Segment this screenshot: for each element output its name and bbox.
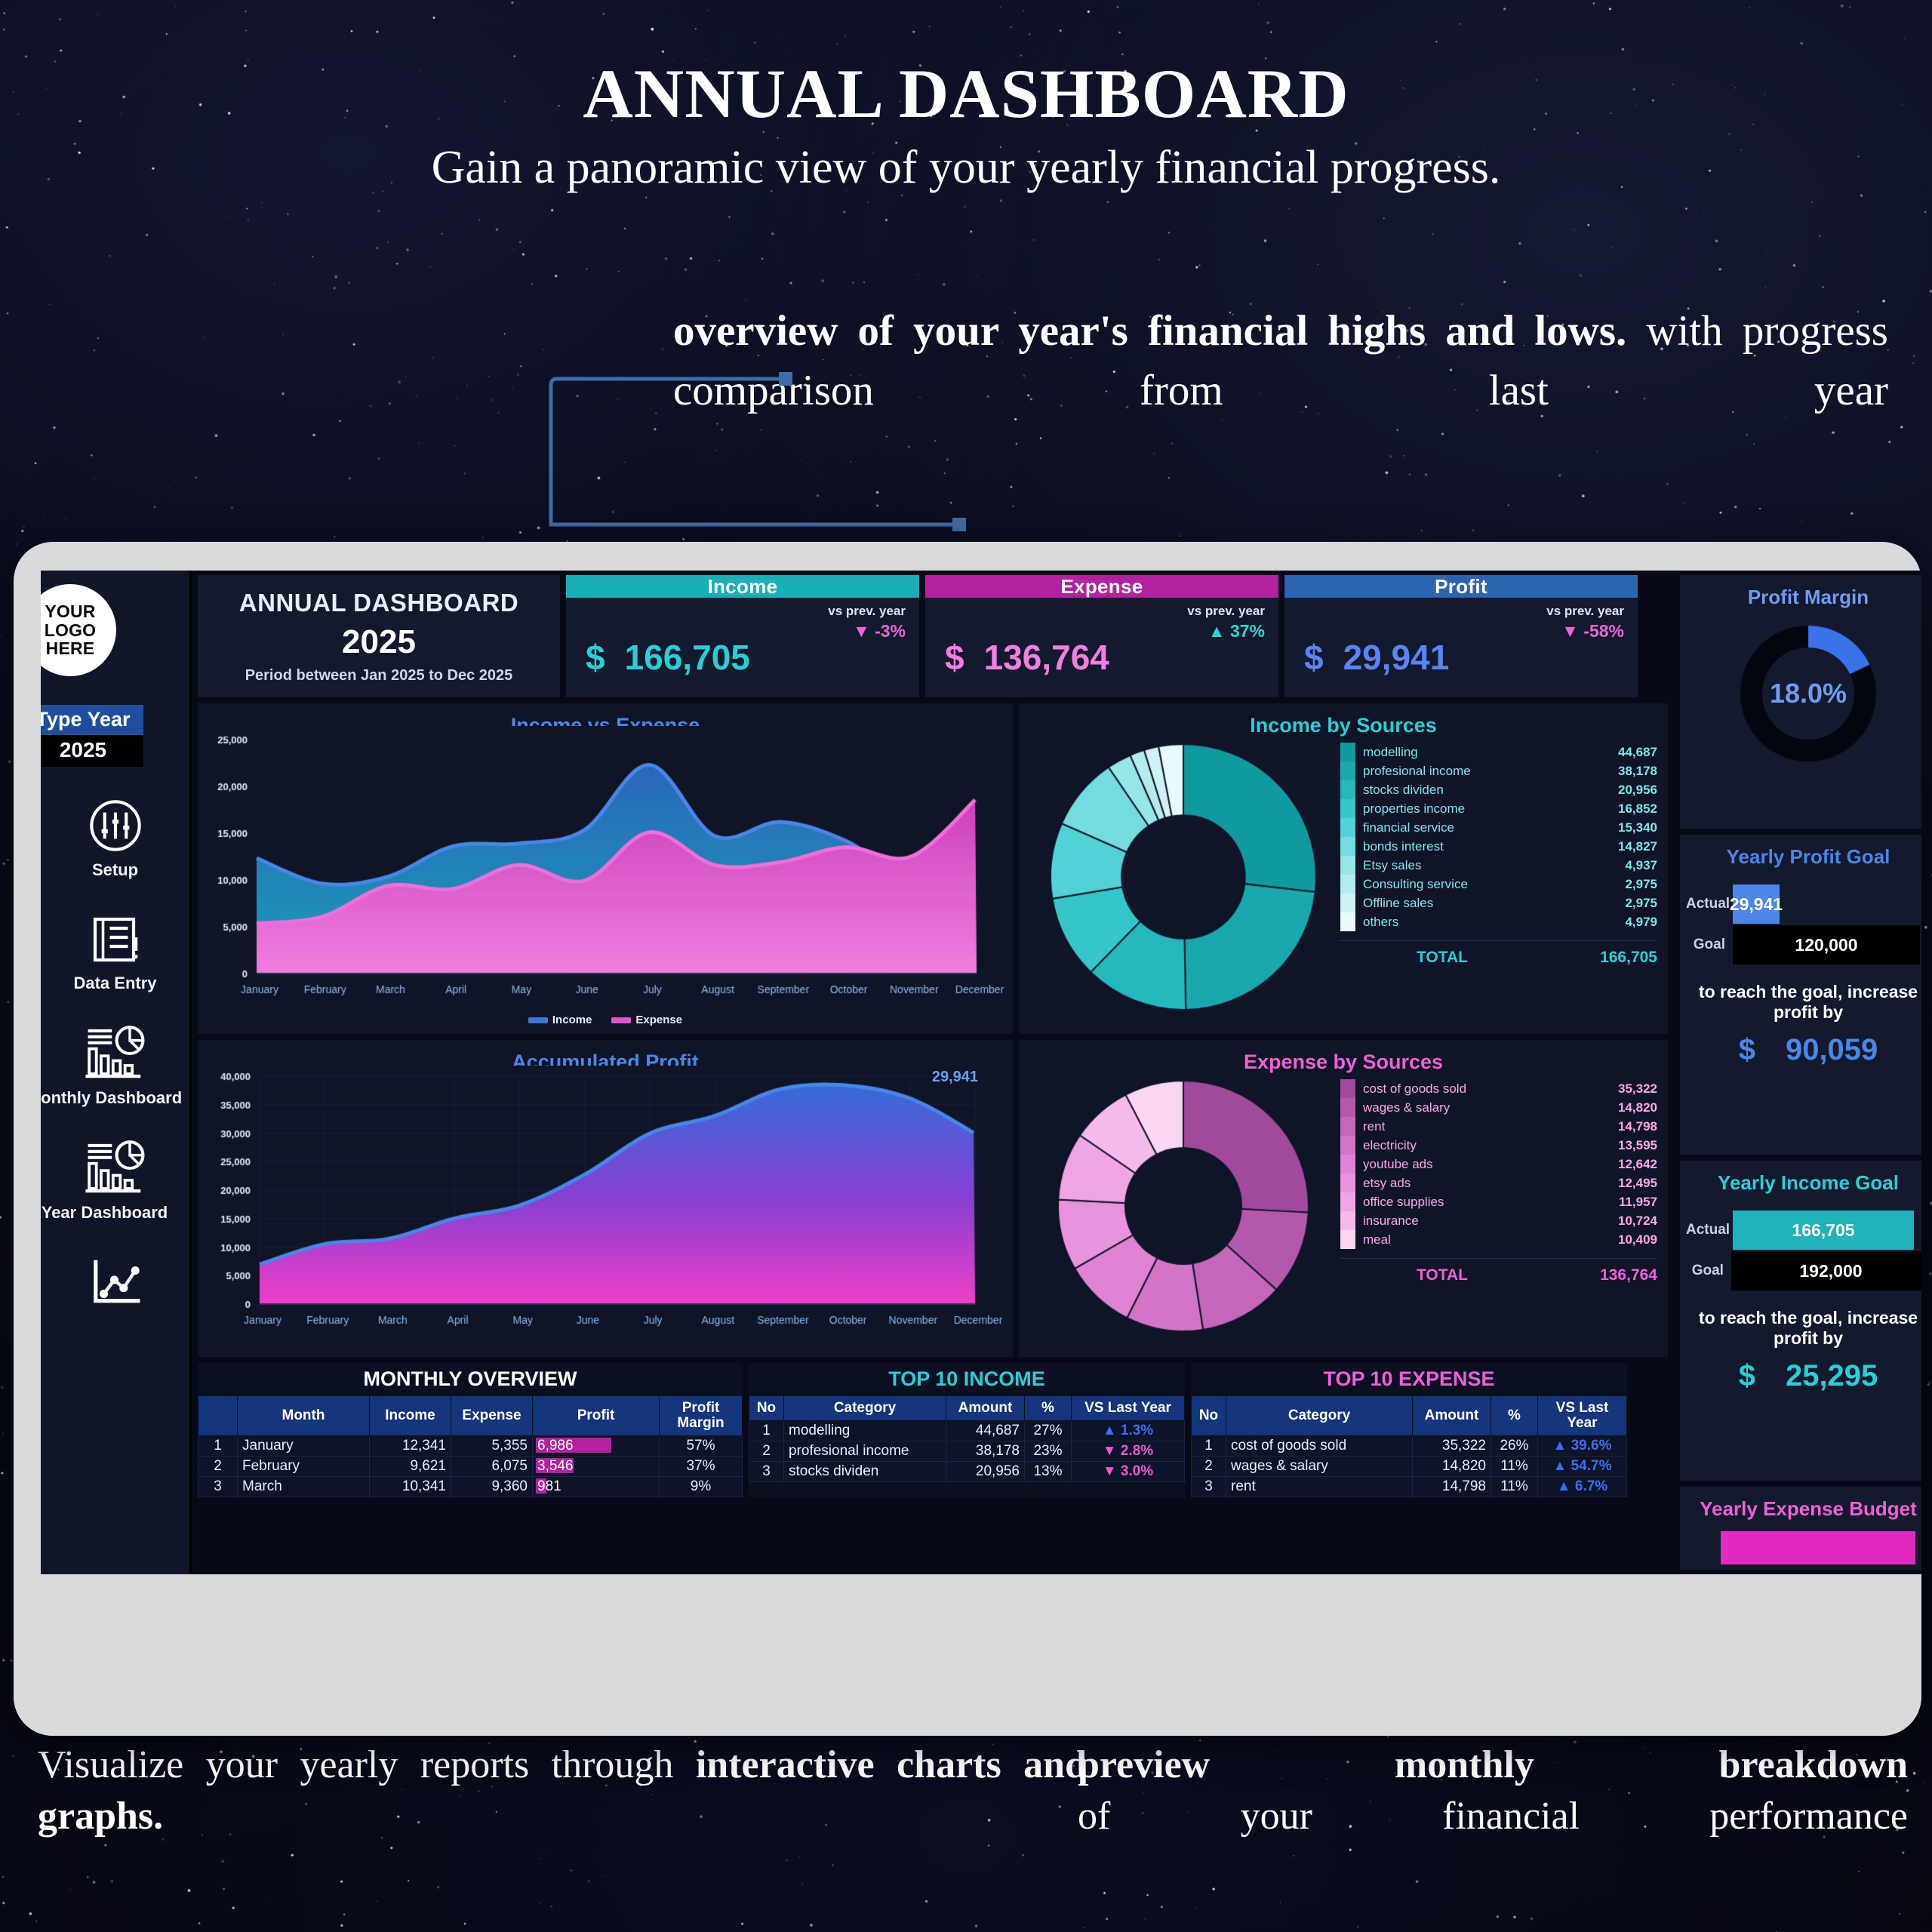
source-label: financial service — [1363, 820, 1574, 835]
source-row: insurance10,724 — [1363, 1211, 1657, 1230]
dashboard-period: Period between Jan 2025 to Dec 2025 — [245, 667, 513, 685]
sidebar-item-year-dashboard[interactable]: Year Dashboard — [41, 1140, 189, 1223]
actual-label: Actual — [1686, 1222, 1733, 1238]
kpi-card-expense[interactable]: Expense vs prev. year ▲ 37% $136,764 — [925, 575, 1278, 697]
profit-goal-amount: $90,059 — [1680, 1033, 1921, 1067]
source-row: others4,979 — [1363, 912, 1657, 931]
kpi-vs-income: vs prev. year ▼ -3% — [828, 604, 906, 641]
cell-profit: 3,546 — [533, 1456, 660, 1476]
source-row: etsy ads12,495 — [1363, 1174, 1657, 1192]
cell-pct: 13% — [1025, 1461, 1072, 1481]
source-row: rent14,798 — [1363, 1117, 1657, 1136]
top-expense-table: No Category Amount % VS Last Year 1cost … — [1191, 1395, 1627, 1497]
yearly-profit-goal-title: Yearly Profit Goal — [1680, 835, 1921, 869]
table-row[interactable]: 2profesional income38,17823%▼ 2.8% — [749, 1441, 1185, 1461]
source-value: 13,595 — [1574, 1138, 1657, 1153]
dashboard-year: 2025 — [342, 623, 416, 661]
source-row: youtube ads12,642 — [1363, 1155, 1657, 1174]
logo-line-2: LOGO — [45, 621, 97, 639]
cell-amount: 35,322 — [1413, 1435, 1491, 1456]
top-expense-panel: TOP 10 EXPENSE No Category Amount % VS L… — [1191, 1363, 1627, 1497]
cell-no: 1 — [198, 1435, 238, 1456]
callout-bottom-left: Visualize your yearly reports through in… — [38, 1740, 1087, 1843]
legend-label: Income — [552, 1014, 592, 1026]
top-expense-title: TOP 10 EXPENSE — [1191, 1363, 1627, 1395]
sidebar-item-label: Data Entry — [73, 974, 156, 993]
hero-block: ANNUAL DASHBOARD Gain a panoramic view o… — [0, 59, 1932, 193]
col-amount: Amount — [1413, 1396, 1491, 1436]
source-swatch — [1340, 743, 1355, 761]
source-label: Offline sales — [1363, 896, 1574, 911]
profit-goal-target-row: Goal 120,000 — [1686, 924, 1921, 965]
sliders-icon — [87, 797, 144, 854]
cell-vs: ▼ 2.8% — [1072, 1441, 1185, 1461]
profit-margin-card: Profit Margin 18.0% — [1680, 575, 1921, 829]
source-row: financial service15,340 — [1363, 818, 1657, 837]
cell-no: 1 — [1192, 1435, 1226, 1456]
income-swatch-column — [1340, 743, 1355, 931]
source-value: 14,820 — [1574, 1100, 1657, 1115]
kpi-delta: ▼ -58% — [1546, 621, 1624, 641]
sidebar-item-label: Setup — [92, 860, 138, 880]
source-row: bonds interest14,827 — [1363, 837, 1657, 856]
col-income: Income — [370, 1396, 451, 1436]
currency-symbol: $ — [1739, 1359, 1755, 1392]
source-label: others — [1363, 915, 1574, 930]
cell-vs: ▲ 6.7% — [1538, 1476, 1627, 1497]
kpi-header-income: Income — [566, 575, 919, 598]
profit-goal-note: to reach the goal, increase profit by — [1680, 982, 1921, 1023]
cell-no: 3 — [749, 1461, 784, 1481]
income-by-sources-panel: Income by Sources modelling44,687profesi… — [1019, 703, 1668, 1034]
source-swatch — [1340, 1079, 1355, 1098]
income-sources-legend: modelling44,687profesional income38,178s… — [1340, 743, 1657, 967]
kpi-vs-expense: vs prev. year ▲ 37% — [1187, 604, 1265, 641]
dashboard-title-card: ANNUAL DASHBOARD 2025 Period between Jan… — [198, 575, 560, 697]
kpi-body-expense: vs prev. year ▲ 37% $136,764 — [925, 598, 1278, 697]
expense-sources-legend: cost of goods sold35,322wages & salary14… — [1340, 1079, 1657, 1284]
source-label: etsy ads — [1363, 1176, 1574, 1191]
cell-income: 9,621 — [370, 1456, 451, 1476]
expense-total-row: TOTAL 136,764 — [1340, 1258, 1657, 1284]
source-row: properties income16,852 — [1363, 799, 1657, 818]
source-swatch — [1340, 1211, 1355, 1230]
cell-amount: 20,956 — [946, 1461, 1025, 1481]
cell-amount: 44,687 — [946, 1420, 1025, 1441]
income-total-value: 166,705 — [1544, 949, 1657, 967]
source-row: Offline sales2,975 — [1363, 894, 1657, 912]
profit-goal-target-value: 120,000 — [1795, 935, 1857, 955]
source-label: wages & salary — [1363, 1100, 1574, 1115]
dashboard-title: ANNUAL DASHBOARD — [239, 589, 518, 617]
currency-symbol: $ — [945, 638, 964, 677]
profit-margin-donut: 18.0% — [1734, 620, 1882, 768]
sidebar-nav: Setup — [41, 797, 189, 1348]
currency-symbol: $ — [1304, 638, 1324, 677]
income-goal-actual-bar: 166,705 — [1733, 1211, 1914, 1250]
source-value: 35,322 — [1574, 1081, 1657, 1097]
table-row[interactable]: 2February9,6216,0753,54637% — [198, 1456, 743, 1476]
cell-expense: 5,355 — [451, 1435, 533, 1456]
source-value: 14,798 — [1574, 1119, 1657, 1134]
monthly-overview-panel: MONTHLY OVERVIEW Month Income Expense Pr… — [198, 1363, 743, 1497]
kpi-vs-profit: vs prev. year ▼ -58% — [1546, 604, 1624, 641]
page-title: ANNUAL DASHBOARD — [0, 59, 1932, 130]
source-swatch — [1340, 837, 1355, 856]
kpi-amount-profit: $29,941 — [1304, 637, 1449, 678]
profit-goal-target-bar: 120,000 — [1733, 925, 1920, 964]
callout-top: overview of your year's financial highs … — [673, 302, 1888, 420]
source-label: cost of goods sold — [1363, 1081, 1574, 1097]
yearly-income-goal-title: Yearly Income Goal — [1680, 1161, 1921, 1195]
income-goal-target-value: 192,000 — [1799, 1261, 1862, 1281]
kpi-header-profit: Profit — [1284, 575, 1638, 598]
tables-row: MONTHLY OVERVIEW Month Income Expense Pr… — [198, 1363, 1921, 1497]
yearly-expense-budget-card: Yearly Expense Budget — [1680, 1487, 1921, 1570]
source-label: electricity — [1363, 1138, 1574, 1153]
charts-row-2: Accumulated Profit 29,941 Expense by Sou… — [198, 1040, 1921, 1357]
year-selector-value[interactable]: 2025 — [41, 735, 143, 767]
cell-pct: 26% — [1491, 1435, 1538, 1456]
cell-no: 2 — [198, 1456, 238, 1476]
top-income-table: No Category Amount % VS Last Year 1model… — [749, 1395, 1185, 1482]
sidebar-item-data-entry[interactable]: Data Entry — [41, 912, 189, 993]
dashboard-content: ANNUAL DASHBOARD 2025 Period between Jan… — [192, 571, 1921, 1574]
col-amount: Amount — [946, 1396, 1025, 1421]
dashboard-screen: YOUR LOGO HERE Type Year 2025 — [41, 571, 1921, 1574]
cell-no: 3 — [1192, 1476, 1226, 1497]
right-column: Profit Margin 18.0% Yearly Profit Goal A… — [1680, 575, 1921, 1570]
poster-background: ANNUAL DASHBOARD Gain a panoramic view o… — [0, 0, 1932, 1932]
cell-pct: 11% — [1491, 1456, 1538, 1476]
kpi-vs-label: vs prev. year — [1187, 604, 1265, 619]
year-selector[interactable]: Type Year 2025 — [41, 705, 143, 767]
table-row[interactable]: 1January12,3415,3556,98657% — [198, 1435, 743, 1456]
legend-label: Expense — [635, 1014, 682, 1026]
sidebar: YOUR LOGO HERE Type Year 2025 — [41, 571, 192, 1574]
col-profit: Profit — [533, 1396, 660, 1436]
chart-title: Income by Sources — [1019, 703, 1668, 737]
source-swatch — [1340, 1155, 1355, 1174]
source-swatch — [1340, 1192, 1355, 1211]
cell-category: rent — [1226, 1476, 1413, 1497]
callout-bottom-right: preview monthly breakdown of your financ… — [1078, 1740, 1908, 1843]
source-swatch — [1340, 912, 1355, 931]
source-label: insurance — [1363, 1214, 1574, 1229]
source-row: Consulting service2,975 — [1363, 875, 1657, 894]
source-label: profesional income — [1363, 764, 1574, 779]
callout-bl-rest: Visualize your yearly reports through — [38, 1743, 696, 1786]
cell-amount: 38,178 — [946, 1441, 1025, 1461]
source-row: wages & salary14,820 — [1363, 1098, 1657, 1117]
source-value: 38,178 — [1574, 764, 1657, 779]
expense-source-rows: cost of goods sold35,322wages & salary14… — [1340, 1079, 1657, 1249]
legend-item-expense: Expense — [611, 1014, 682, 1026]
cell-vs: ▲ 1.3% — [1072, 1420, 1185, 1441]
currency-symbol: $ — [1739, 1033, 1755, 1066]
col-no — [198, 1396, 238, 1436]
source-swatch — [1340, 856, 1355, 875]
table-row[interactable]: 1modelling44,68727%▲ 1.3% — [749, 1420, 1185, 1441]
kpi-body-income: vs prev. year ▼ -3% $166,705 — [566, 598, 919, 697]
kpi-value: 136,764 — [984, 638, 1109, 677]
charts-row-1: Income vs Expense Income Expense Income … — [198, 703, 1921, 1034]
source-row: electricity13,595 — [1363, 1136, 1657, 1155]
cell-month: January — [238, 1435, 370, 1456]
data-entry-icon — [86, 912, 145, 968]
cell-category: modelling — [784, 1420, 946, 1441]
accumulated-profit-end-label: 29,941 — [932, 1069, 978, 1086]
source-swatch — [1340, 780, 1355, 799]
source-value: 44,687 — [1574, 745, 1657, 760]
yearly-profit-goal-card: Yearly Profit Goal Actual 29,941 Goal — [1680, 835, 1921, 1155]
source-swatch — [1340, 894, 1355, 912]
profit-margin-title: Profit Margin — [1680, 575, 1921, 609]
logo-placeholder: YOUR LOGO HERE — [41, 584, 116, 676]
income-goal-actual-row: Actual 166,705 — [1686, 1210, 1921, 1251]
profit-margin-value: 18.0% — [1762, 648, 1854, 740]
source-swatch — [1340, 875, 1355, 894]
cell-pct: 11% — [1491, 1476, 1538, 1497]
cell-category: cost of goods sold — [1226, 1435, 1413, 1456]
kpi-delta: ▼ -3% — [828, 621, 906, 641]
yearly-expense-budget-title: Yearly Expense Budget — [1680, 1487, 1921, 1521]
top-income-panel: TOP 10 INCOME No Category Amount % VS La… — [749, 1363, 1185, 1497]
source-value: 10,409 — [1574, 1232, 1657, 1247]
cell-income: 12,341 — [370, 1435, 451, 1456]
callout-br-rest: of your financial performance — [1078, 1795, 1908, 1838]
expense-budget-bar — [1721, 1531, 1915, 1564]
cell-margin: 57% — [660, 1435, 743, 1456]
tablet-bottom-bezel — [14, 1580, 1921, 1736]
line-chart-icon — [84, 1254, 147, 1310]
kpi-vs-label: vs prev. year — [828, 604, 906, 619]
col-month: Month — [238, 1396, 370, 1436]
callout-top-bold: overview of your year's financial highs … — [673, 307, 1626, 355]
cell-pct: 23% — [1025, 1441, 1072, 1461]
cell-no: 2 — [749, 1441, 784, 1461]
col-no: No — [749, 1396, 784, 1421]
source-label: modelling — [1363, 745, 1574, 760]
source-label: stocks dividen — [1363, 783, 1574, 798]
monthly-overview-title: MONTHLY OVERVIEW — [198, 1363, 743, 1395]
yearly-income-goal-card: Yearly Income Goal Actual 166,705 Goal — [1680, 1161, 1921, 1481]
currency-symbol: $ — [586, 638, 605, 677]
cell-month: February — [238, 1456, 370, 1476]
source-label: meal — [1363, 1232, 1574, 1247]
monthly-overview-table: Month Income Expense Profit Profit Margi… — [198, 1395, 743, 1497]
chart-title: Expense by Sources — [1019, 1040, 1668, 1074]
sidebar-item-label: Year Dashboard — [42, 1203, 168, 1223]
cell-category: profesional income — [784, 1441, 946, 1461]
cell-expense: 6,075 — [451, 1456, 533, 1476]
sidebar-item-trend[interactable] — [41, 1254, 189, 1316]
source-swatch — [1340, 818, 1355, 837]
source-value: 16,852 — [1574, 801, 1657, 817]
profit-goal-actual-value: 29,941 — [1730, 894, 1783, 915]
profit-goal-bars: Actual 29,941 Goal 120,000 — [1680, 869, 1921, 965]
source-row: office supplies11,957 — [1363, 1192, 1657, 1211]
income-goal-amount: $25,295 — [1680, 1359, 1921, 1393]
source-swatch — [1340, 1174, 1355, 1192]
kpi-card-income[interactable]: Income vs prev. year ▼ -3% $166,705 — [566, 575, 919, 697]
source-label: Consulting service — [1363, 877, 1574, 892]
cell-income: 10,341 — [370, 1476, 451, 1497]
col-vs-last-year: VS Last Year — [1538, 1396, 1627, 1436]
cell-no: 3 — [198, 1476, 238, 1497]
cell-category: wages & salary — [1226, 1456, 1413, 1476]
income-total-row: TOTAL 166,705 — [1340, 940, 1657, 967]
kpi-vs-label: vs prev. year — [1546, 604, 1624, 619]
cell-margin: 37% — [660, 1456, 743, 1476]
table-row[interactable]: 1cost of goods sold35,32226%▲ 39.6% — [1192, 1435, 1627, 1456]
source-label: Etsy sales — [1363, 858, 1574, 873]
tablet-frame: YOUR LOGO HERE Type Year 2025 — [14, 542, 1921, 1736]
sidebar-item-setup[interactable]: Setup — [41, 797, 189, 880]
source-value: 10,724 — [1574, 1214, 1657, 1229]
source-value: 20,956 — [1574, 783, 1657, 798]
source-value: 2,975 — [1574, 896, 1657, 911]
cell-month: March — [238, 1476, 370, 1497]
source-row: meal10,409 — [1363, 1230, 1657, 1249]
logo-line-3: HERE — [46, 639, 95, 657]
source-row: Etsy sales4,937 — [1363, 856, 1657, 875]
table-header-row: No Category Amount % VS Last Year — [749, 1396, 1185, 1421]
col-expense: Expense — [451, 1396, 533, 1436]
source-swatch — [1340, 799, 1355, 818]
goal-label: Goal — [1686, 1263, 1731, 1279]
source-label: youtube ads — [1363, 1157, 1574, 1172]
source-value: 12,495 — [1574, 1176, 1657, 1191]
kpi-body-profit: vs prev. year ▼ -58% $29,941 — [1284, 598, 1638, 697]
sidebar-item-label: Monthly Dashboard — [41, 1088, 182, 1108]
expense-swatch-column — [1340, 1079, 1355, 1249]
source-value: 12,642 — [1574, 1157, 1657, 1172]
source-row: modelling44,687 — [1363, 743, 1657, 761]
cell-no: 1 — [749, 1420, 784, 1441]
income-goal-target-row: Goal 192,000 — [1686, 1251, 1921, 1291]
table-row[interactable]: 2wages & salary14,82011%▲ 54.7% — [1192, 1456, 1627, 1476]
source-swatch — [1340, 1136, 1355, 1155]
cell-vs: ▲ 54.7% — [1538, 1456, 1627, 1476]
source-label: office supplies — [1363, 1195, 1574, 1210]
cell-pct: 27% — [1025, 1420, 1072, 1441]
table-row[interactable]: 3stocks dividen20,95613%▼ 3.0% — [749, 1461, 1185, 1481]
source-label: bonds interest — [1363, 839, 1574, 854]
source-value: 14,827 — [1574, 839, 1657, 854]
kpi-amount-income: $166,705 — [586, 637, 750, 678]
top-income-title: TOP 10 INCOME — [749, 1363, 1185, 1395]
cell-profit: 6,986 — [533, 1435, 660, 1456]
cell-category: stocks dividen — [784, 1461, 946, 1481]
callout-br-bold: preview monthly breakdown — [1078, 1743, 1908, 1786]
kpi-card-profit[interactable]: Profit vs prev. year ▼ -58% $29,941 — [1284, 575, 1638, 697]
expense-by-sources-panel: Expense by Sources cost of goods sold35,… — [1019, 1040, 1668, 1357]
source-swatch — [1340, 1117, 1355, 1136]
chart-legend: Income Expense — [198, 1014, 1013, 1026]
income-goal-amount-value: 25,295 — [1786, 1359, 1878, 1392]
kpi-value: 166,705 — [625, 638, 750, 677]
source-value: 15,340 — [1574, 820, 1657, 835]
cell-no: 2 — [1192, 1456, 1226, 1476]
table-row[interactable]: 3rent14,79811%▲ 6.7% — [1192, 1476, 1627, 1497]
income-source-rows: modelling44,687profesional income38,178s… — [1340, 743, 1657, 931]
col-profit-margin: Profit Margin — [660, 1396, 743, 1436]
cell-amount: 14,820 — [1413, 1456, 1491, 1476]
source-value: 4,937 — [1574, 858, 1657, 873]
cell-expense: 9,360 — [451, 1476, 533, 1497]
profit-goal-actual-row: Actual 29,941 — [1686, 884, 1921, 924]
cell-vs: ▲ 39.6% — [1538, 1435, 1627, 1456]
expense-total-label: TOTAL — [1340, 1266, 1544, 1284]
source-row: profesional income38,178 — [1363, 761, 1657, 780]
source-label: properties income — [1363, 801, 1574, 817]
bar-pie-chart-icon — [81, 1025, 150, 1082]
profit-goal-amount-value: 90,059 — [1786, 1033, 1878, 1066]
income-goal-target-bar: 192,000 — [1731, 1251, 1921, 1291]
income-goal-actual-value: 166,705 — [1792, 1220, 1854, 1241]
source-row: stocks dividen20,956 — [1363, 780, 1657, 799]
income-total-label: TOTAL — [1340, 949, 1544, 967]
table-row[interactable]: 3March10,3419,3609819% — [198, 1476, 743, 1497]
income-vs-expense-panel: Income vs Expense Income Expense — [198, 703, 1013, 1034]
kpi-row: ANNUAL DASHBOARD 2025 Period between Jan… — [198, 575, 1921, 697]
source-label: rent — [1363, 1119, 1574, 1134]
cell-amount: 14,798 — [1413, 1476, 1491, 1497]
source-value: 2,975 — [1574, 877, 1657, 892]
sidebar-item-monthly-dashboard[interactable]: Monthly Dashboard — [41, 1025, 189, 1108]
source-row: cost of goods sold35,322 — [1363, 1079, 1657, 1098]
kpi-header-expense: Expense — [925, 575, 1278, 598]
year-selector-label: Type Year — [41, 705, 143, 735]
legend-item-income: Income — [528, 1014, 592, 1026]
col-category: Category — [784, 1396, 946, 1421]
income-goal-note: to reach the goal, increase profit by — [1680, 1308, 1921, 1349]
source-swatch — [1340, 761, 1355, 780]
logo-line-1: YOUR — [45, 602, 95, 620]
cell-profit: 981 — [533, 1476, 660, 1497]
source-swatch — [1340, 1230, 1355, 1249]
table-header-row: No Category Amount % VS Last Year — [1192, 1396, 1627, 1436]
col-vs-last-year: VS Last Year — [1072, 1396, 1185, 1421]
profit-goal-actual-bar: 29,941 — [1733, 884, 1780, 924]
expense-total-value: 136,764 — [1544, 1266, 1657, 1284]
cell-margin: 9% — [660, 1476, 743, 1497]
kpi-delta: ▲ 37% — [1187, 621, 1265, 641]
col-no: No — [1192, 1396, 1226, 1436]
source-swatch — [1340, 1098, 1355, 1117]
page-subtitle: Gain a panoramic view of your yearly fin… — [0, 142, 1932, 193]
source-value: 4,979 — [1574, 915, 1657, 930]
col-pct: % — [1491, 1396, 1538, 1436]
kpi-value: 29,941 — [1343, 638, 1450, 677]
goal-label: Goal — [1686, 937, 1733, 953]
accumulated-profit-panel: Accumulated Profit 29,941 — [198, 1040, 1013, 1357]
income-goal-bars: Actual 166,705 Goal 192,000 — [1680, 1195, 1921, 1291]
kpi-amount-expense: $136,764 — [945, 637, 1109, 678]
cell-vs: ▼ 3.0% — [1072, 1461, 1185, 1481]
table-header-row: Month Income Expense Profit Profit Margi… — [198, 1396, 743, 1436]
actual-label: Actual — [1686, 896, 1733, 912]
col-pct: % — [1025, 1396, 1072, 1421]
bar-pie-chart-icon — [81, 1140, 150, 1197]
source-value: 11,957 — [1574, 1195, 1657, 1210]
col-category: Category — [1226, 1396, 1413, 1436]
